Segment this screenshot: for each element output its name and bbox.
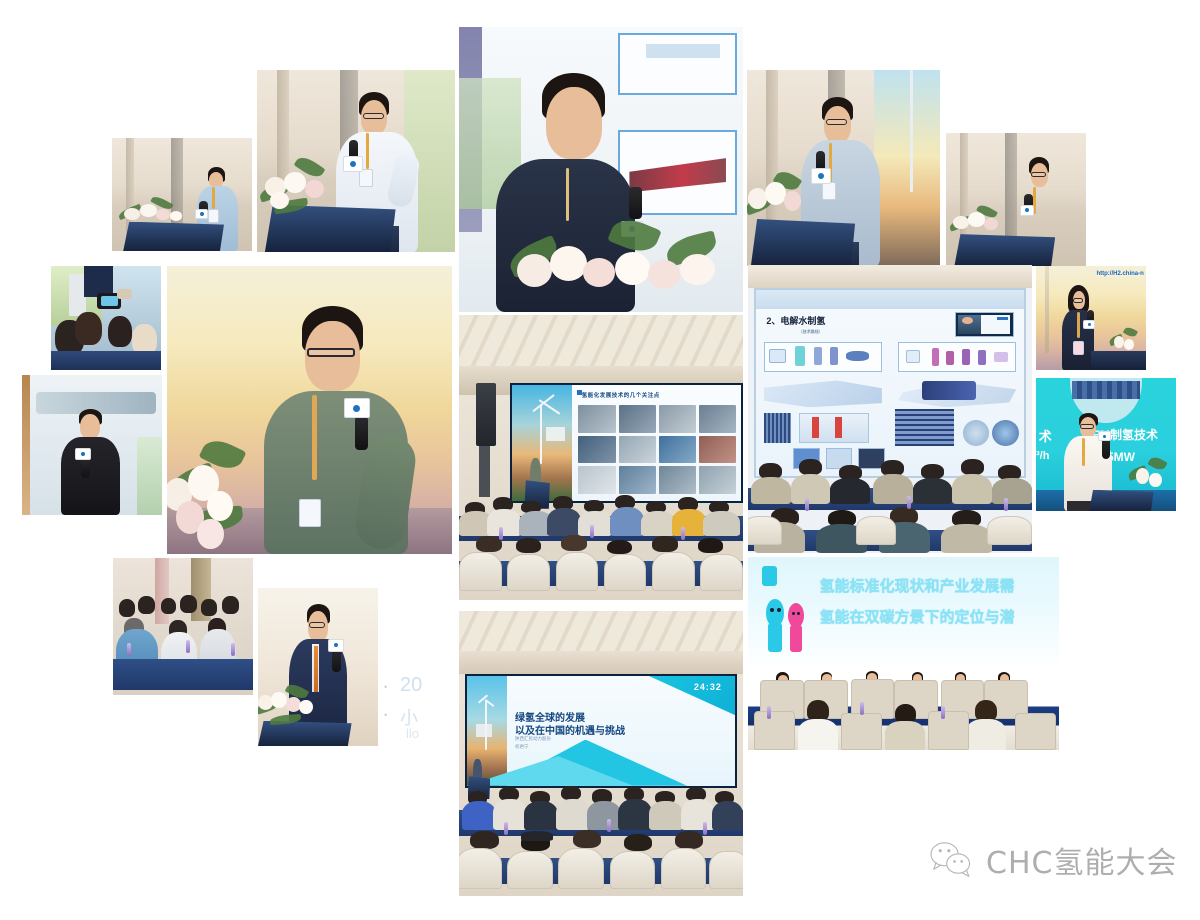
photo-hall-green-hydrogen-slide: 24:32 绿氢全球的发展 以及在中国的机遇与挑战 陕西汇民动力股份 权君宁 (459, 611, 743, 896)
photo-hall-wide-shot-equipment-slide: 氢能化发展技术的几个关注点 (459, 315, 743, 600)
photo-speaker-navy-suit-orange-tie (258, 588, 378, 746)
panel-backdrop-line1: 氢能标准化现状和产业发展需 (820, 575, 1015, 596)
photo-speaker-grey-shirt-podium (747, 70, 940, 266)
slide-subheading-electrolysis: （技术路线） (799, 329, 823, 335)
photo-hall-electrolysis-slide: 2、电解水制氢 （技术路线） (748, 265, 1032, 553)
url-overlay-text: http://H2.china-n (1096, 271, 1143, 277)
photo-speaker-em-banner: 术 ³/h EM制氢技术 ≥5MW (1036, 378, 1176, 511)
faint-bullet-1: 20 (400, 674, 422, 697)
slide-heading-electrolysis: 2、电解水制氢 (766, 314, 825, 327)
slide-electrolysis: 2、电解水制氢 （技术路线） (756, 290, 1025, 476)
photo-collage: • 20 • 小 llo 氢能化发展技术的几个关注点 (0, 0, 1200, 920)
watermark-text: CHC氢能大会 (986, 838, 1177, 882)
watermark: CHC氢能大会 (928, 838, 1177, 882)
led-screen-electrolysis: 2、电解水制氢 （技术路线） (754, 288, 1027, 478)
wechat-icon (928, 840, 974, 880)
slide-green-hydrogen: 24:32 绿氢全球的发展 以及在中国的机遇与挑战 陕西汇民动力股份 权君宁 (467, 676, 736, 786)
faint-slide-fragment: • 20 • 小 llo (378, 660, 456, 746)
photo-speaker-sage-green-polo-main (167, 266, 452, 554)
photo-speaker-blue-shirt-glasses (946, 133, 1086, 266)
photo-speaker-podium-white-shirt-glasses (257, 70, 455, 252)
photo-panel-discussion-six-panelists: 氢能标准化现状和产业发展需 氢能在双碳方景下的定位与潜 (748, 557, 1059, 750)
photo-speaker-black-polo (22, 375, 162, 515)
photo-audience-seated-table (113, 558, 253, 695)
banner-text-1: 术 (1039, 426, 1052, 445)
slide-heading-equipment: 氢能化发展技术的几个关注点 (582, 391, 660, 399)
banner-text-3: ³/h (1036, 450, 1049, 462)
photo-audience-taking-photos (51, 266, 161, 370)
faint-bullet-3: llo (406, 726, 419, 741)
panel-backdrop-line2: 氢能在双碳方景下的定位与潜 (820, 606, 1015, 627)
slide-timer: 24:32 (694, 682, 722, 692)
panel-backdrop: 氢能标准化现状和产业发展需 氢能在双碳方景下的定位与潜 (748, 557, 1059, 669)
led-screen-green-hydrogen: 24:32 绿氢全球的发展 以及在中国的机遇与挑战 陕西汇民动力股份 权君宁 (465, 674, 738, 788)
photo-speaker-navy-polo-closeup (459, 27, 743, 312)
slide-title-line2: 以及在中国的机遇与挑战 (515, 722, 625, 737)
photo-female-speaker-navy-dress: http://H2.china-n (1036, 266, 1146, 370)
photo-speaker-podium-light-blue-shirt (112, 138, 252, 251)
